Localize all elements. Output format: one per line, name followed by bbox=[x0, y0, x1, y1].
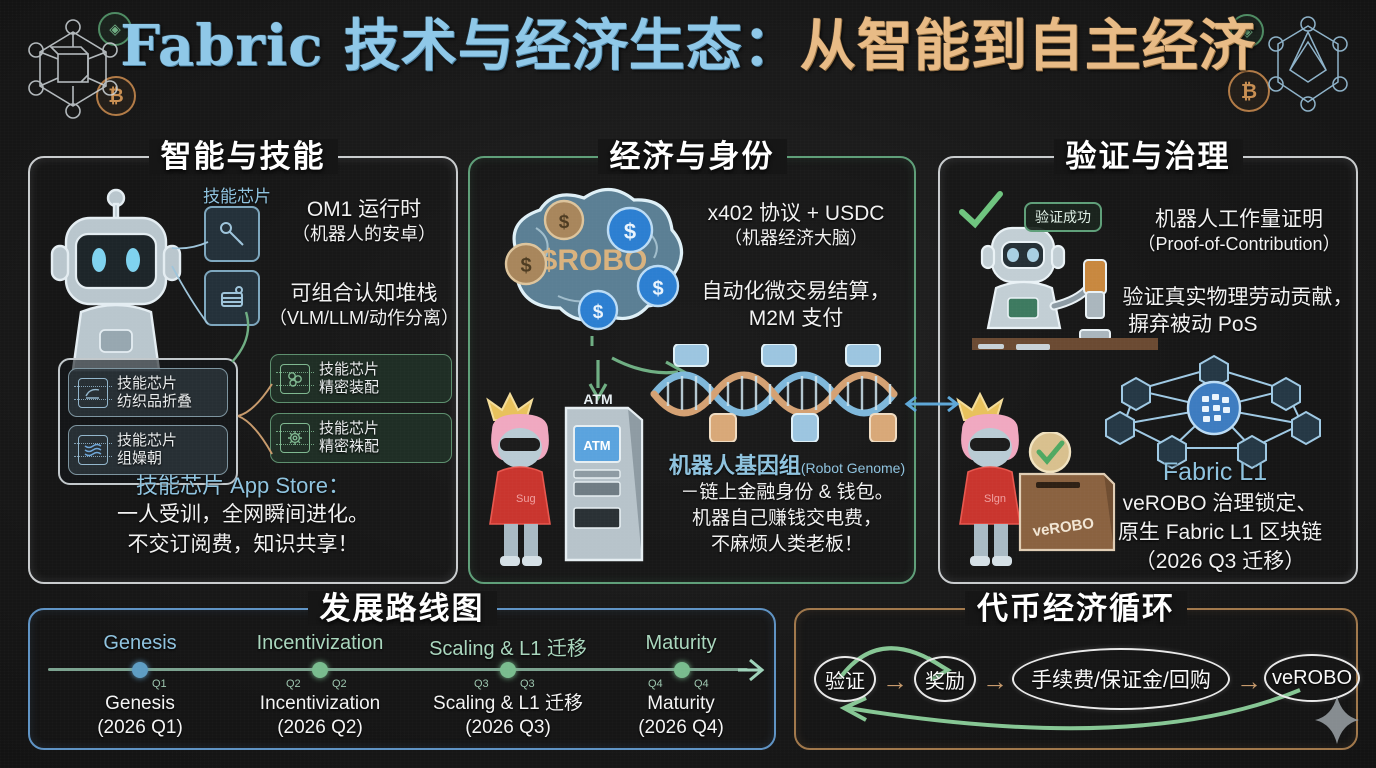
svg-text:$: $ bbox=[520, 255, 531, 277]
svg-text:Sug: Sug bbox=[516, 493, 536, 505]
svg-text:$: $ bbox=[593, 302, 604, 323]
app-store-line1: 一人受训，全网瞬间进化。 bbox=[30, 500, 456, 530]
panel-economy-title: 经济与身份 bbox=[470, 131, 914, 176]
roadmap-bottom-0: Genesis (2026 Q1) bbox=[50, 692, 230, 740]
roadmap-q-left-2: Q3 bbox=[474, 678, 489, 690]
chip-connector-lines bbox=[170, 214, 214, 334]
panel-roadmap: 发展路线图 Genesis Q1 Genesis (2026 Q1) Incen… bbox=[28, 608, 776, 750]
panel-roadmap-title: 发展路线图 bbox=[30, 583, 774, 628]
roadmap-bottom-1: Incentivization (2026 Q2) bbox=[222, 692, 418, 740]
roadmap-bottom-2: Scaling & L1 迁移 (2026 Q3) bbox=[412, 692, 604, 740]
chip-card-label: 技能芯片 组嬠朝 bbox=[117, 432, 177, 467]
roadmap-q-left-1: Q2 bbox=[286, 678, 301, 690]
genome-heading-en: (Robot Genome) bbox=[801, 460, 905, 476]
bidirectional-link-arrow-icon bbox=[904, 392, 960, 416]
panel-verification-governance: 验证与治理 验证成功 bbox=[938, 156, 1358, 584]
loop-node-fees[interactable]: 手续费/保证金/回购 bbox=[1012, 648, 1230, 710]
loop-arrow-2-icon: → bbox=[982, 666, 1008, 697]
genome-line3: 不麻烦人类老板！ bbox=[662, 532, 912, 558]
panel-token-loop-title: 代币经济循环 bbox=[796, 583, 1356, 628]
genome-line2: 机器自己赚钱交电费， bbox=[662, 506, 912, 532]
svg-text:$: $ bbox=[624, 219, 636, 244]
robot-genome-block: 机器人基因组(Robot Genome) －链上金融身份 & 钱包。 机器自己赚… bbox=[662, 448, 912, 559]
roadmap-top-label-0: Genesis bbox=[50, 632, 230, 655]
roadmap-q-right-1: Q2 bbox=[332, 678, 347, 690]
roadmap-arrow-icon bbox=[734, 654, 768, 686]
fabric-l1-label: Fabric L1 bbox=[1163, 458, 1267, 486]
roadmap-dot-0[interactable] bbox=[132, 662, 148, 678]
governance-line3: （2026 Q3 迁移） bbox=[1090, 548, 1350, 577]
m2m-payments-text: 自动化微交易结算， M2M 支付 bbox=[682, 278, 910, 333]
loop-node-reward[interactable]: 奖励 bbox=[914, 656, 976, 702]
roadmap-q-right-0: Q1 bbox=[152, 678, 167, 690]
loop-arrow-3-icon: → bbox=[1236, 666, 1262, 697]
roadmap-timeline-axis bbox=[48, 668, 748, 671]
chip-card-label: 技能芯片 纺织品折叠 bbox=[117, 375, 192, 410]
roadmap-top-label-3: Maturity bbox=[596, 632, 766, 655]
sparkle-icon bbox=[1312, 694, 1362, 746]
proof-of-contribution-text: 机器人工作量证明 （Proof-of-Contribution） bbox=[1122, 206, 1356, 257]
roadmap-q-right-3: Q4 bbox=[694, 678, 709, 690]
cognitive-stack-text: 可组合认知堆栈 （VLM/LLM/动作分离） bbox=[268, 280, 460, 331]
om1-runtime-text: OM1 运行时 （机器人的安卓） bbox=[274, 196, 454, 247]
chip-card-label: 技能芯片 精密装配 bbox=[319, 361, 379, 396]
svg-text:$: $ bbox=[652, 278, 663, 300]
gears-chip-icon bbox=[280, 364, 310, 394]
chip-branch-lines bbox=[236, 368, 274, 464]
physical-labor-text: 验证真实物理劳动贡献， 摒弃被动 PoS bbox=[1120, 284, 1356, 339]
title-orange-part: 从智能到自主经济 bbox=[800, 13, 1256, 79]
genome-line1: －链上金融身份 & 钱包。 bbox=[662, 480, 912, 506]
title-blue-part: Fabric 技术与经济生态： bbox=[120, 13, 800, 79]
robot-to-chip-curve bbox=[216, 310, 256, 366]
fabric-l1-network-illustration bbox=[1090, 350, 1340, 470]
governance-line2: 原生 Fabric L1 区块链 bbox=[1090, 519, 1350, 548]
genome-heading-cn: 机器人基因组 bbox=[669, 453, 801, 478]
cog-chip-icon bbox=[280, 423, 310, 453]
app-store-line2: 不交订阅费，知识共享！ bbox=[30, 530, 456, 560]
panel-intelligence-skills: 智能与技能 技能芯片 bbox=[28, 156, 458, 584]
panel-intelligence-title: 智能与技能 bbox=[30, 131, 456, 176]
robo-brain-illustration: $ROBO $ $ $ $ $ bbox=[488, 186, 708, 346]
roadmap-q-right-2: Q3 bbox=[520, 678, 535, 690]
atm-label: ATM bbox=[583, 391, 612, 407]
app-store-heading: 技能芯片 App Store： bbox=[30, 468, 456, 500]
dna-helix-illustration bbox=[650, 344, 940, 442]
panel-token-economy-loop: 代币经济循环 验证 → 奖励 → 手续费/保证金/回购 → veROBO bbox=[794, 608, 1358, 750]
x402-protocol-text: x402 协议 + USDC （机器经济大脑） bbox=[682, 200, 910, 251]
chip-card-precision-assembly-2[interactable]: 技能芯片 精密袾配 bbox=[270, 413, 452, 462]
roadmap-dot-1[interactable] bbox=[312, 662, 328, 678]
svg-text:ATM: ATM bbox=[583, 438, 610, 453]
loop-node-verify[interactable]: 验证 bbox=[814, 656, 876, 702]
chip-card-label: 技能芯片 精密袾配 bbox=[319, 420, 379, 455]
governance-text: veROBO 治理锁定、 原生 Fabric L1 区块链 （2026 Q3 迁… bbox=[1090, 490, 1350, 577]
chip-card-precision-assembly-1[interactable]: 技能芯片 精密装配 bbox=[270, 354, 452, 403]
roadmap-top-label-1: Incentivization bbox=[222, 632, 418, 655]
roadmap-dot-3[interactable] bbox=[674, 662, 690, 678]
page-title: Fabric 技术与经济生态：从智能到自主经济 bbox=[0, 14, 1376, 78]
robot-character-atm-illustration: Sug bbox=[476, 390, 566, 570]
panel-verification-title: 验证与治理 bbox=[940, 131, 1356, 176]
loop-arrow-1-icon: → bbox=[882, 666, 908, 697]
roadmap-top-label-2: Scaling & L1 迁移 bbox=[412, 632, 604, 661]
roadmap-dot-2[interactable] bbox=[500, 662, 516, 678]
svg-text:$: $ bbox=[559, 212, 570, 233]
right-chip-card-group: 技能芯片 精密装配 技能芯片 精密袾配 bbox=[270, 354, 452, 463]
chip-card-fabric-fold[interactable]: 技能芯片 纺织品折叠 bbox=[68, 368, 228, 417]
roadmap-q-left-3: Q4 bbox=[648, 678, 663, 690]
governance-line1: veROBO 治理锁定、 bbox=[1090, 490, 1350, 519]
left-chip-card-group: 技能芯片 纺织品折叠 技能芯片 组嬠朝 bbox=[58, 358, 238, 485]
svg-text:Slgn: Slgn bbox=[984, 493, 1006, 505]
roadmap-bottom-3: Maturity (2026 Q4) bbox=[596, 692, 766, 740]
speech-bubble-verify-success: 验证成功 bbox=[1024, 202, 1102, 232]
fabric-fold-chip-icon bbox=[78, 378, 108, 408]
atm-machine-illustration: ATM ATM bbox=[554, 386, 654, 572]
app-store-block: 技能芯片 App Store： 一人受训，全网瞬间进化。 不交订阅费，知识共享！ bbox=[30, 468, 456, 561]
weave-chip-icon bbox=[78, 435, 108, 465]
infographic-canvas: ◈ ₿ ◈ ₿ Fabric 技术与经济生态：从智能到自主经济 智能与技能 bbox=[0, 0, 1376, 768]
panel-economy-identity: 经济与身份 $ROBO $ $ $ $ $ bbox=[468, 156, 916, 584]
